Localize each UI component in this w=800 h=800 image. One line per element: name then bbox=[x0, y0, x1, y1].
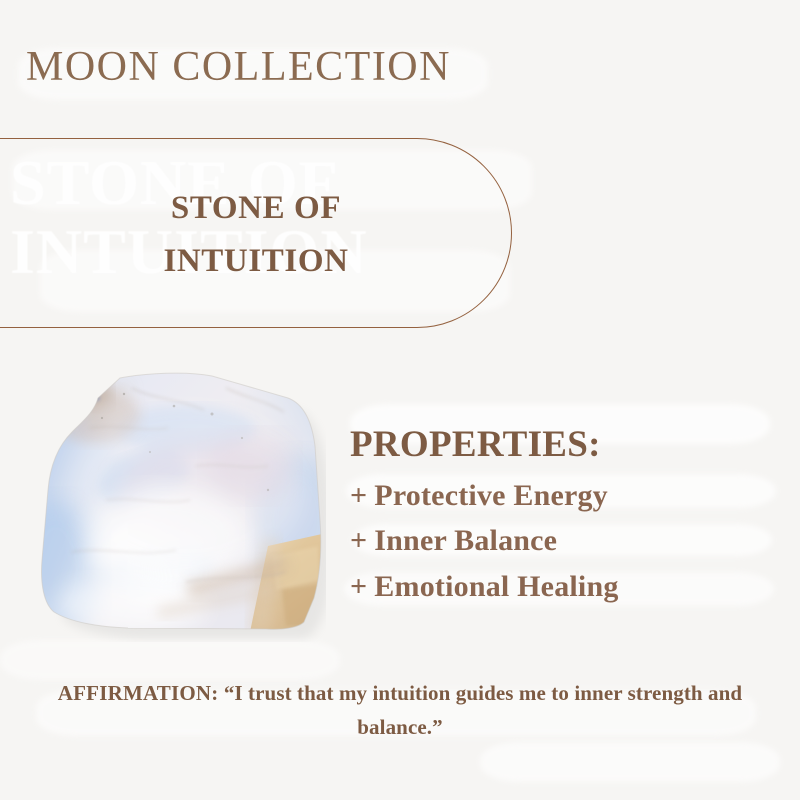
property-item: +Inner Balance bbox=[350, 518, 770, 564]
property-item: +Emotional Healing bbox=[350, 564, 770, 610]
affirmation-label: AFFIRMATION: bbox=[58, 681, 219, 705]
affirmation-quote: “I trust that my intuition guides me to … bbox=[224, 681, 742, 739]
page-title: MOON COLLECTION bbox=[26, 44, 451, 90]
property-item: +Protective Energy bbox=[350, 473, 770, 519]
plus-icon: + bbox=[350, 524, 367, 557]
affirmation-block: AFFIRMATION: “I trust that my intuition … bbox=[30, 676, 770, 744]
property-label: Emotional Healing bbox=[374, 570, 618, 603]
plus-icon: + bbox=[350, 570, 367, 603]
stone-badge-text: STONE OF INTUITION bbox=[0, 182, 512, 289]
moonstone-image bbox=[36, 370, 326, 642]
plus-icon: + bbox=[350, 479, 367, 512]
badge-line-2: INTUITION bbox=[0, 235, 512, 288]
property-label: Protective Energy bbox=[374, 479, 608, 512]
poster-canvas: MOON COLLECTION STONE OF INTUITION STONE… bbox=[0, 0, 800, 800]
properties-heading: PROPERTIES: bbox=[350, 424, 770, 467]
badge-line-1: STONE OF bbox=[0, 182, 512, 235]
property-label: Inner Balance bbox=[374, 524, 557, 557]
properties-section: PROPERTIES: +Protective Energy +Inner Ba… bbox=[350, 424, 770, 610]
